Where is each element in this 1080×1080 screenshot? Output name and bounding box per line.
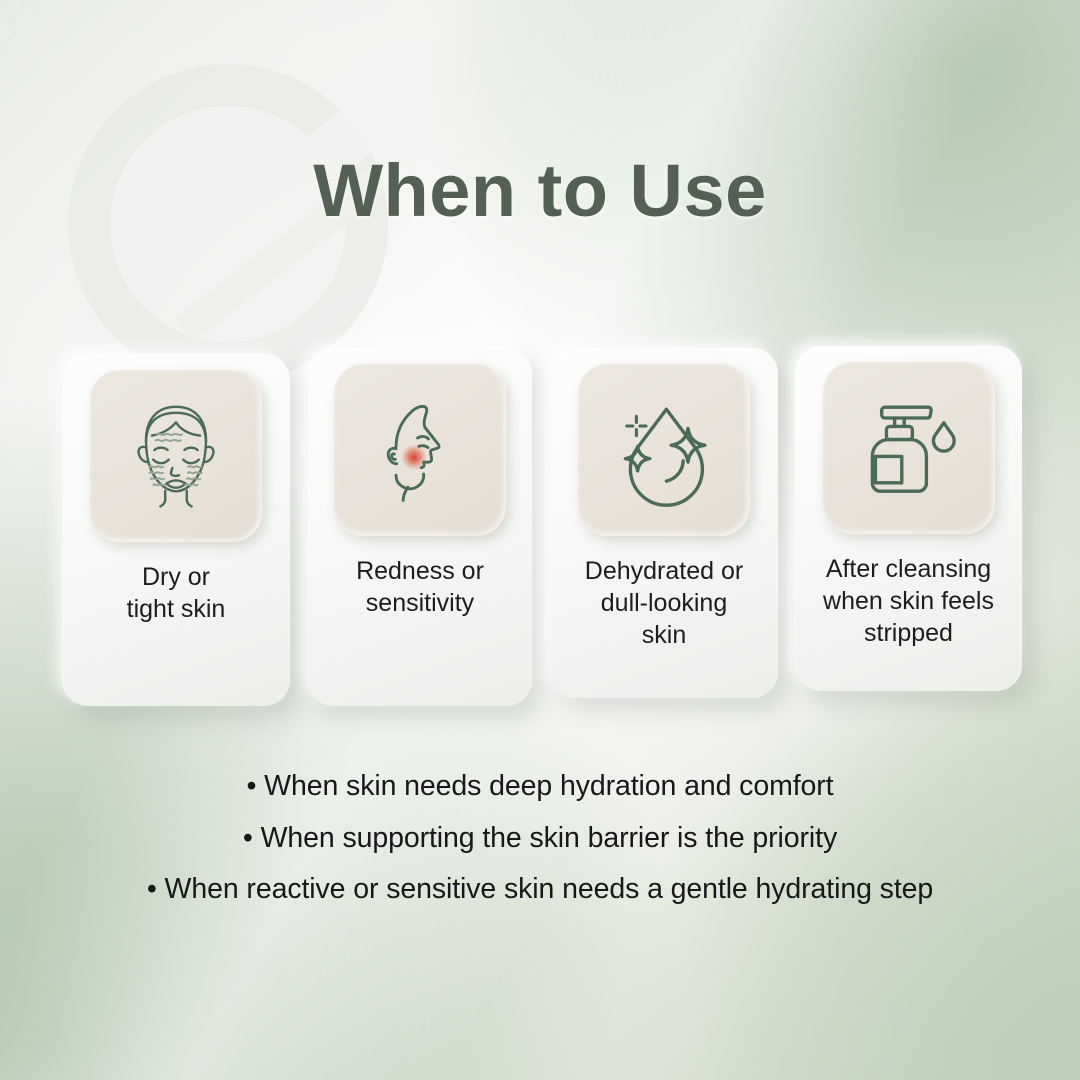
card-dry-tight-skin[interactable]: Dry or tight skin bbox=[62, 354, 290, 706]
page-title: When to Use bbox=[0, 148, 1080, 233]
card-caption: Dry or tight skin bbox=[119, 561, 234, 625]
redness-spot bbox=[401, 444, 427, 470]
card-redness-sensitivity[interactable]: Redness or sensitivity bbox=[308, 348, 532, 706]
card-after-cleansing[interactable]: After cleansing when skin feels stripped bbox=[795, 346, 1022, 691]
bullet-item: • When reactive or sensitive skin needs … bbox=[0, 875, 1080, 904]
face-profile-redness-icon bbox=[360, 390, 480, 510]
icon-tile bbox=[90, 370, 262, 542]
card-caption: Dehydrated or dull-looking skin bbox=[577, 555, 751, 651]
benefit-cards-row: Dry or tight skin bbox=[58, 344, 1026, 714]
water-drop-sparkle-icon bbox=[604, 390, 724, 510]
bullet-list: • When skin needs deep hydration and com… bbox=[0, 772, 1080, 904]
face-dry-wrinkles-icon bbox=[116, 396, 236, 516]
pump-bottle-droplet-icon bbox=[849, 388, 969, 508]
card-dehydrated-dull-skin[interactable]: Dehydrated or dull-looking skin bbox=[550, 348, 778, 698]
icon-tile bbox=[823, 362, 995, 534]
bullet-item: • When skin needs deep hydration and com… bbox=[0, 772, 1080, 801]
card-caption: Redness or sensitivity bbox=[348, 555, 492, 619]
bullet-item: • When supporting the skin barrier is th… bbox=[0, 824, 1080, 853]
card-caption: After cleansing when skin feels stripped bbox=[815, 553, 1002, 649]
icon-tile bbox=[334, 364, 506, 536]
icon-tile bbox=[578, 364, 750, 536]
